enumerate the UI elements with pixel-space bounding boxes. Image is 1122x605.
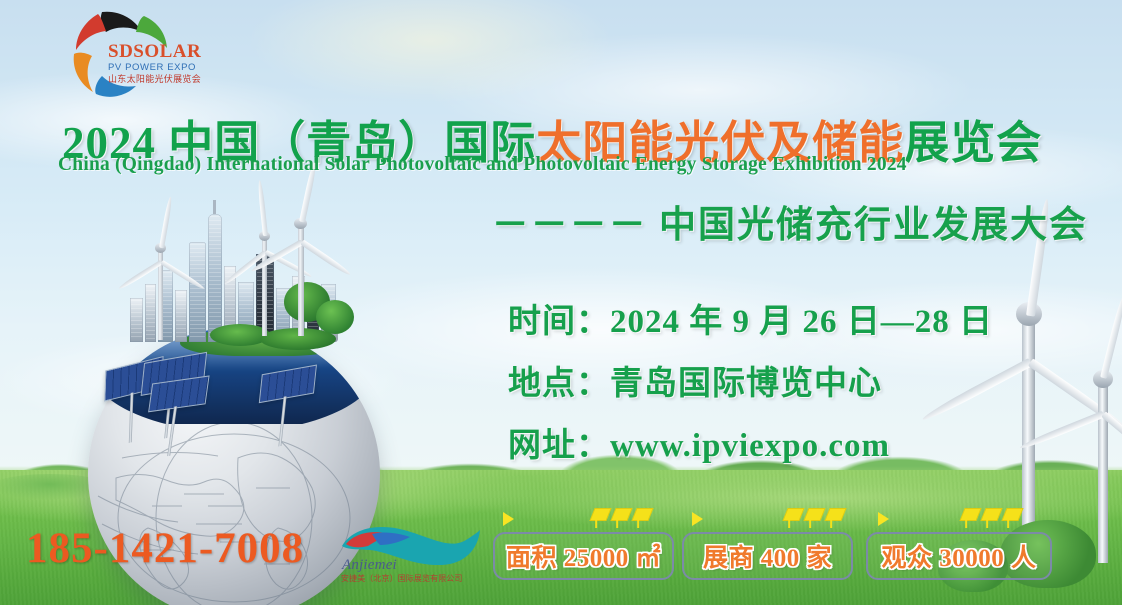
- stat-badge-label: 面积 25000 ㎡: [506, 538, 661, 574]
- stat-badge-label: 观众 30000 人: [881, 538, 1036, 574]
- organizer-logo: Anjiemei 安捷美（北京）国际展览有限公司: [338, 524, 484, 586]
- logo-tagline-en: PV POWER EXPO: [108, 63, 201, 73]
- arrow-marker-2: [692, 512, 703, 526]
- wind-turbine-globe-1: [130, 210, 200, 340]
- event-date: 时间：2024 年 9 月 26 日—28 日: [508, 294, 993, 342]
- solar-panel-icon: [1001, 508, 1023, 521]
- organizer-name-cn: 安捷美（北京）国际展览有限公司: [341, 573, 463, 584]
- solar-panel-icon: [631, 508, 653, 521]
- event-venue: 地点：青岛国际博览中心: [508, 356, 993, 404]
- stat-badge-visitors: 观众 30000 人: [866, 532, 1052, 580]
- logo-tagline-cn: 山东太阳能光伏展览会: [108, 75, 201, 84]
- title-english: China (Qingdao) International Solar Phot…: [58, 154, 907, 176]
- solar-panel-icon: [589, 508, 611, 521]
- title-part-green-2: 展览会: [904, 118, 1042, 168]
- arrow-marker-1: [503, 512, 514, 526]
- wind-turbine-globe-3: [266, 180, 342, 336]
- solar-icon-group-3: [962, 508, 1021, 521]
- solar-panel-icon: [824, 508, 846, 521]
- stat-badge-exhibitors: 展商 400 家: [682, 532, 853, 580]
- solar-icon-group-1: [592, 508, 651, 521]
- solar-icon-group-2: [785, 508, 844, 521]
- stat-badge-area: 面积 25000 ㎡: [493, 532, 674, 580]
- contact-phone[interactable]: 185-1421-7008: [26, 524, 304, 573]
- exhibition-poster: SDSOLAR PV POWER EXPO 山东太阳能光伏展览会 2024 中国…: [0, 0, 1122, 605]
- event-website[interactable]: 网址：www.ipviexpo.com: [508, 418, 993, 466]
- solar-panel-icon: [782, 508, 804, 521]
- organizer-name-en: Anjiemei: [342, 557, 397, 574]
- title-subtitle: －－－－ 中国光储充行业发展大会: [492, 194, 1088, 248]
- spire-icon: [213, 200, 216, 214]
- arrow-marker-3: [878, 512, 889, 526]
- solar-panel-icon: [803, 508, 825, 521]
- solar-panel-icon: [980, 508, 1002, 521]
- event-info-block: 时间：2024 年 9 月 26 日—28 日 地点：青岛国际博览中心 网址：w…: [508, 294, 993, 480]
- solar-panel-icon: [959, 508, 981, 521]
- sdsolar-logo: SDSOLAR PV POWER EXPO 山东太阳能光伏展览会: [60, 8, 210, 100]
- solar-panel-icon: [610, 508, 632, 521]
- stat-badge-label: 展商 400 家: [703, 538, 832, 574]
- logo-brand: SDSOLAR: [108, 42, 201, 61]
